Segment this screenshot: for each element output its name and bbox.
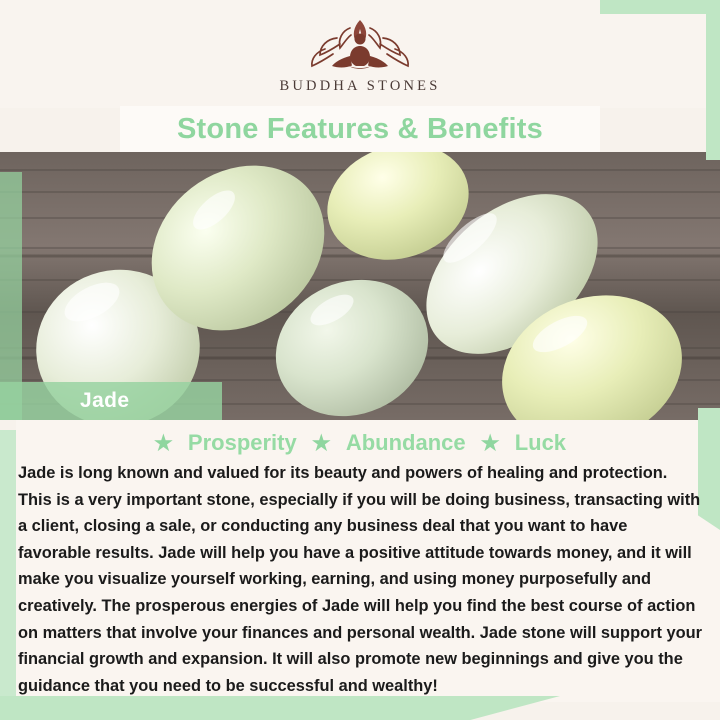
benefit-item-luck: Luck	[515, 430, 566, 455]
stone-photo	[0, 152, 720, 420]
benefit-item-abundance: Abundance	[346, 430, 466, 455]
brand-name: BUDDHA STONES	[280, 78, 441, 95]
description-text: Jade is long known and valued for its be…	[18, 460, 704, 699]
lotus-meditation-icon	[302, 13, 418, 75]
frame-accent-top-right	[600, 0, 720, 14]
brand-header: BUDDHA STONES	[0, 0, 720, 108]
benefit-item-prosperity: Prosperity	[188, 430, 297, 455]
stone-name-band: Jade	[0, 382, 222, 420]
star-icon: ★	[312, 432, 331, 455]
star-icon: ★	[481, 432, 500, 455]
frame-accent-left-lower	[0, 430, 16, 698]
star-icon: ★	[154, 432, 173, 455]
stone-name: Jade	[0, 389, 129, 413]
frame-accent-right	[706, 0, 720, 160]
page-title: Stone Features & Benefits	[177, 113, 543, 146]
frame-accent-bottom	[0, 696, 560, 720]
title-banner: Stone Features & Benefits	[120, 106, 600, 152]
benefits-list: ★ Prosperity ★ Abundance ★ Luck	[0, 430, 720, 456]
